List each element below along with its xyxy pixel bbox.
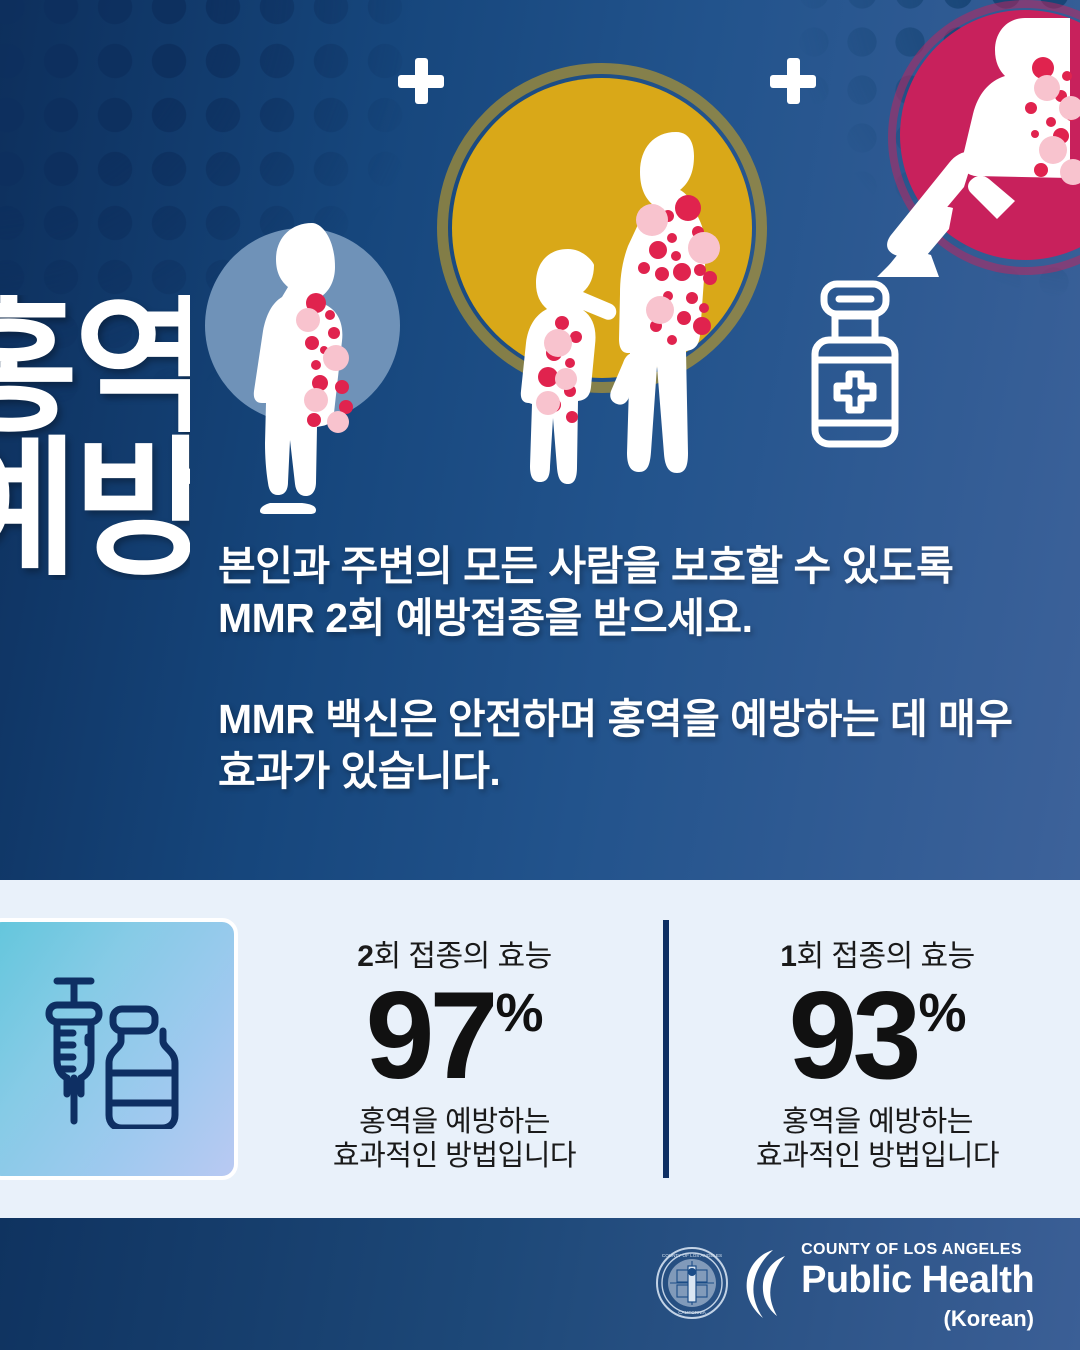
stat-caption-line-2: 효과적인 방법입니다 xyxy=(252,1139,657,1173)
stat-column-two-dose: 2회 접종의 효능 97 % 홍역을 예방하는 효과적인 방법입니다 xyxy=(252,925,657,1174)
public-health-logo: COUNTY OF LOS ANGELES CALIFORNIA COUNTY … xyxy=(655,1242,1034,1332)
stat-column-one-dose: 1회 접종의 효능 93 % 홍역을 예방하는 효과적인 방법입니다 xyxy=(675,925,1080,1174)
svg-text:CALIFORNIA: CALIFORNIA xyxy=(678,1310,707,1315)
stat-caption-line-1: 홍역을 예방하는 xyxy=(675,1105,1080,1139)
body-copy: 본인과 주변의 모든 사람을 보호할 수 있도록 MMR 2회 예방접종을 받으… xyxy=(218,540,1038,798)
syringe-and-vial-icon xyxy=(37,969,187,1129)
stat-caption-line-1: 홍역을 예방하는 xyxy=(252,1105,657,1139)
stat-value-group: 93 % xyxy=(675,979,1080,1093)
body-paragraph-1: 본인과 주변의 모든 사람을 보호할 수 있도록 MMR 2회 예방접종을 받으… xyxy=(218,540,1038,645)
hero-section: 홍역 예방 본인과 주변의 모든 사람을 보호할 수 있도록 MMR 2회 예방… xyxy=(0,0,1080,880)
seated-adult-silhouette xyxy=(875,12,1080,277)
logo-county-line: COUNTY OF LOS ANGELES xyxy=(801,1242,1034,1258)
mother-silhouette xyxy=(610,128,745,510)
stat-divider xyxy=(663,920,669,1178)
logo-language-tag: (Korean) xyxy=(801,1306,1034,1332)
sick-girl-silhouette xyxy=(250,215,390,515)
page-title-line-2: 예방 xyxy=(0,438,190,581)
stats-section: 2회 접종의 효능 97 % 홍역을 예방하는 효과적인 방법입니다 1회 접종… xyxy=(0,880,1080,1218)
stat-value: 97 xyxy=(366,979,494,1093)
page-title: 홍역 예방 xyxy=(0,295,190,580)
svg-text:COUNTY OF LOS ANGELES: COUNTY OF LOS ANGELES xyxy=(662,1253,722,1258)
stat-columns: 2회 접종의 효능 97 % 홍역을 예방하는 효과적인 방법입니다 1회 접종… xyxy=(252,880,1080,1218)
logo-text-block: COUNTY OF LOS ANGELES Public Health (Kor… xyxy=(801,1242,1034,1332)
stat-caption: 홍역을 예방하는 효과적인 방법입니다 xyxy=(252,1105,657,1173)
stat-caption: 홍역을 예방하는 효과적인 방법입니다 xyxy=(675,1105,1080,1173)
syringe-vial-card xyxy=(0,918,238,1180)
page-title-line-1: 홍역 xyxy=(0,295,190,438)
footer-section: COUNTY OF LOS ANGELES CALIFORNIA COUNTY … xyxy=(0,1218,1080,1350)
stat-caption-line-2: 효과적인 방법입니다 xyxy=(675,1139,1080,1173)
vaccine-vial-icon xyxy=(805,280,910,450)
plus-cross-icon xyxy=(770,58,816,104)
stat-unit: % xyxy=(918,989,966,1039)
stat-value: 93 xyxy=(789,979,917,1093)
stat-value-group: 97 % xyxy=(252,979,657,1093)
los-angeles-county-seal: COUNTY OF LOS ANGELES CALIFORNIA xyxy=(655,1246,729,1320)
public-health-swoosh-icon xyxy=(743,1248,787,1320)
body-paragraph-2: MMR 백신은 안전하며 홍역을 예방하는 데 매우 효과가 있습니다. xyxy=(218,693,1038,798)
poster-root: 홍역 예방 본인과 주변의 모든 사람을 보호할 수 있도록 MMR 2회 예방… xyxy=(0,0,1080,1350)
stat-unit: % xyxy=(495,989,543,1039)
plus-cross-icon xyxy=(398,58,444,104)
logo-public-health: Public Health xyxy=(801,1261,1034,1299)
